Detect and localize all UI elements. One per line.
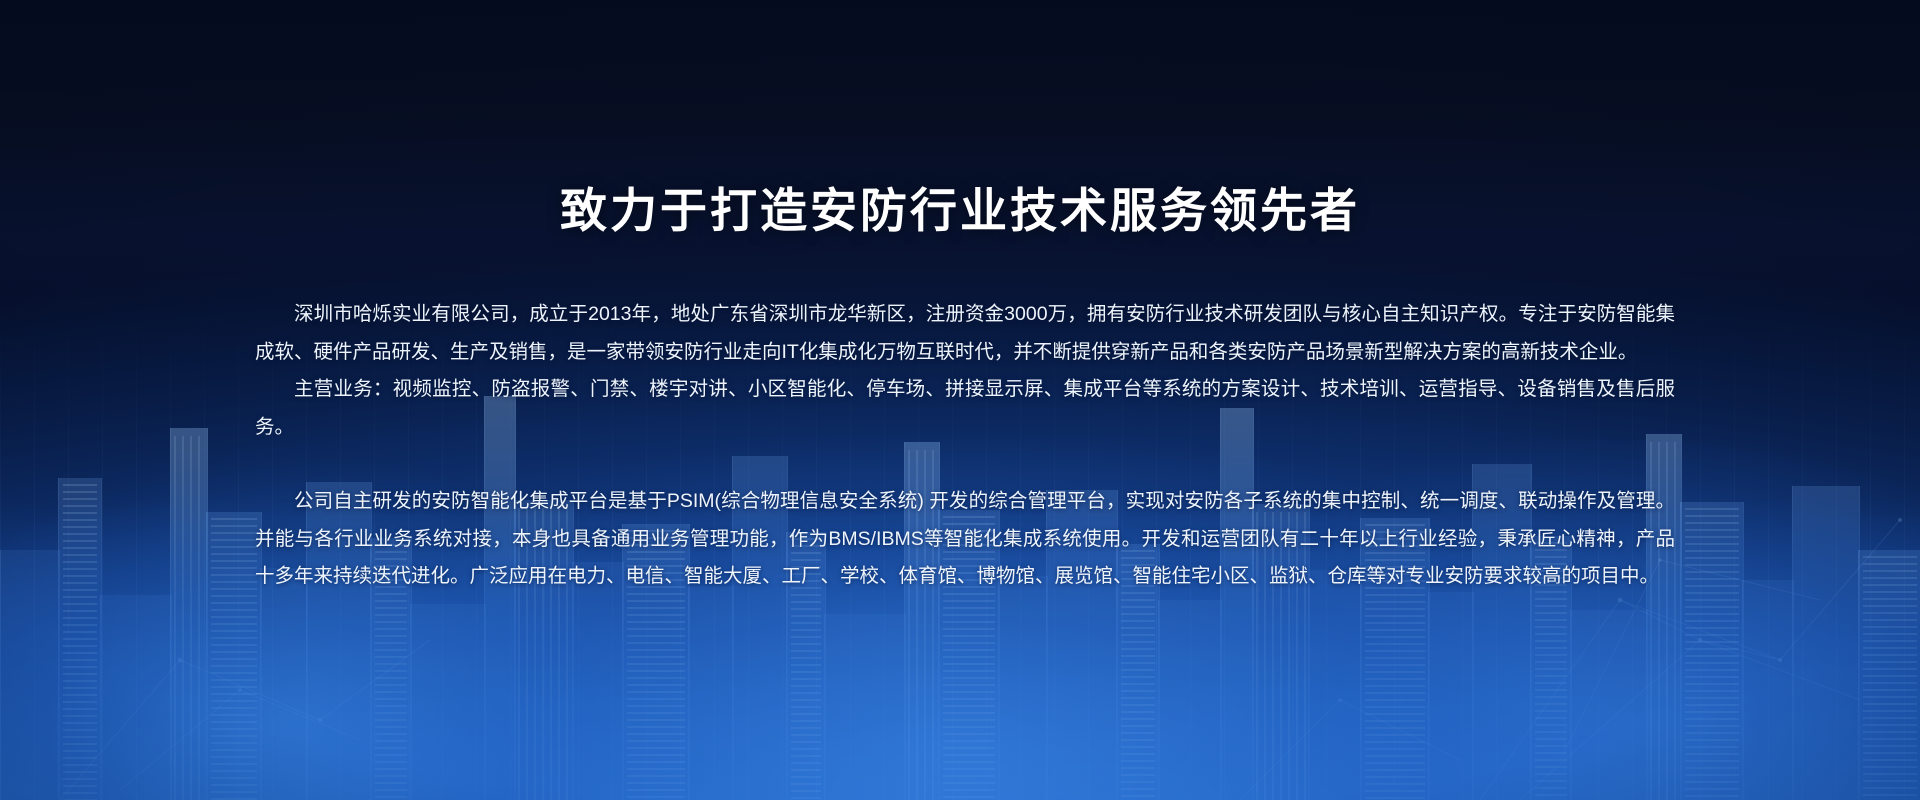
content-layer: 致力于打造安防行业技术服务领先者 深圳市哈烁实业有限公司，成立于2013年，地处… xyxy=(0,0,1920,800)
about-body: 深圳市哈烁实业有限公司，成立于2013年，地处广东省深圳市龙华新区，注册资金30… xyxy=(255,296,1675,596)
about-page: 致力于打造安防行业技术服务领先者 深圳市哈烁实业有限公司，成立于2013年，地处… xyxy=(0,0,1920,800)
page-title: 致力于打造安防行业技术服务领先者 xyxy=(0,183,1920,239)
about-paragraph-1: 深圳市哈烁实业有限公司，成立于2013年，地处广东省深圳市龙华新区，注册资金30… xyxy=(255,296,1675,371)
about-paragraph-2: 主营业务：视频监控、防盗报警、门禁、楼宇对讲、小区智能化、停车场、拼接显示屏、集… xyxy=(255,371,1675,446)
about-paragraph-3: 公司自主研发的安防智能化集成平台是基于PSIM(综合物理信息安全系统) 开发的综… xyxy=(255,483,1675,596)
